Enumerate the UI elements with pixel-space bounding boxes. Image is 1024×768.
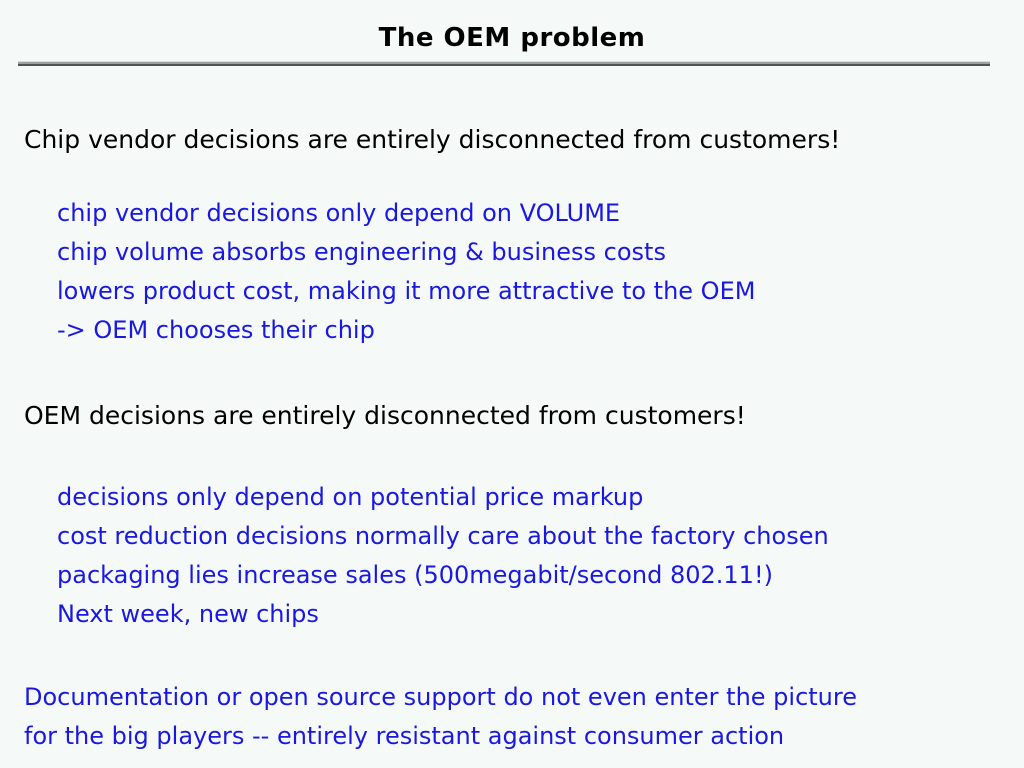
closing-paragraph: Documentation or open source support do … (24, 678, 857, 756)
heading-chip-vendor-text: Chip vendor decisions are entirely disco… (24, 120, 840, 160)
bullet-list-chip-vendor: chip vendor decisions only depend on VOL… (57, 194, 755, 350)
list-item: chip volume absorbs engineering & busine… (57, 233, 755, 272)
heading-oem-text: OEM decisions are entirely disconnected … (24, 396, 746, 436)
list-item: packaging lies increase sales (500megabi… (57, 556, 829, 595)
list-item: cost reduction decisions normally care a… (57, 517, 829, 556)
list-item: lowers product cost, making it more attr… (57, 272, 755, 311)
heading-chip-vendor: Chip vendor decisions are entirely disco… (24, 120, 840, 160)
list-item: -> OEM chooses their chip (57, 311, 755, 350)
list-item: chip vendor decisions only depend on VOL… (57, 194, 755, 233)
closing-paragraph-line: for the big players -- entirely resistan… (24, 717, 857, 756)
list-item: Next week, new chips (57, 595, 829, 634)
page-title: The OEM problem (0, 23, 1024, 53)
slide-canvas: The OEM problem Chip vendor decisions ar… (0, 0, 1024, 768)
list-item: decisions only depend on potential price… (57, 478, 829, 517)
heading-oem: OEM decisions are entirely disconnected … (24, 396, 746, 436)
bullet-list-oem: decisions only depend on potential price… (57, 478, 829, 634)
closing-paragraph-line: Documentation or open source support do … (24, 678, 857, 717)
title-divider-rule (18, 61, 990, 66)
